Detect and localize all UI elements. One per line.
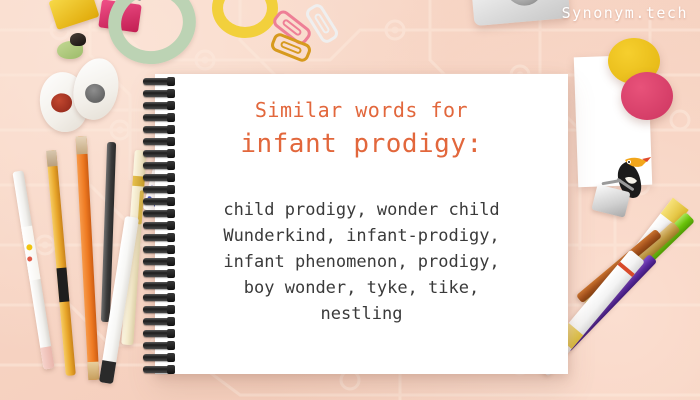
screenshot-canvas: Similar words for infant prodigy: child …	[0, 0, 700, 400]
site-watermark: Synonym.tech	[562, 4, 688, 22]
headword-text: infant prodigy:	[155, 129, 568, 159]
synonym-line: infant phenomenon, prodigy,	[155, 249, 568, 275]
bird-eraser-icon	[57, 33, 87, 59]
macaron-pink-icon	[621, 72, 673, 120]
synonym-line: child prodigy, wonder child	[155, 197, 568, 223]
synonym-list: child prodigy, wonder child Wunderkind, …	[155, 197, 568, 327]
notepad: Similar words for infant prodigy: child …	[155, 74, 568, 374]
camera-lens-icon	[504, 0, 545, 7]
synonym-line: nestling	[155, 301, 568, 327]
notepad-content: Similar words for infant prodigy: child …	[155, 74, 568, 327]
synonym-line: boy wonder, tyke, tike,	[155, 275, 568, 301]
similar-words-label: Similar words for	[155, 98, 568, 122]
synonym-line: Wunderkind, infant-prodigy,	[155, 223, 568, 249]
